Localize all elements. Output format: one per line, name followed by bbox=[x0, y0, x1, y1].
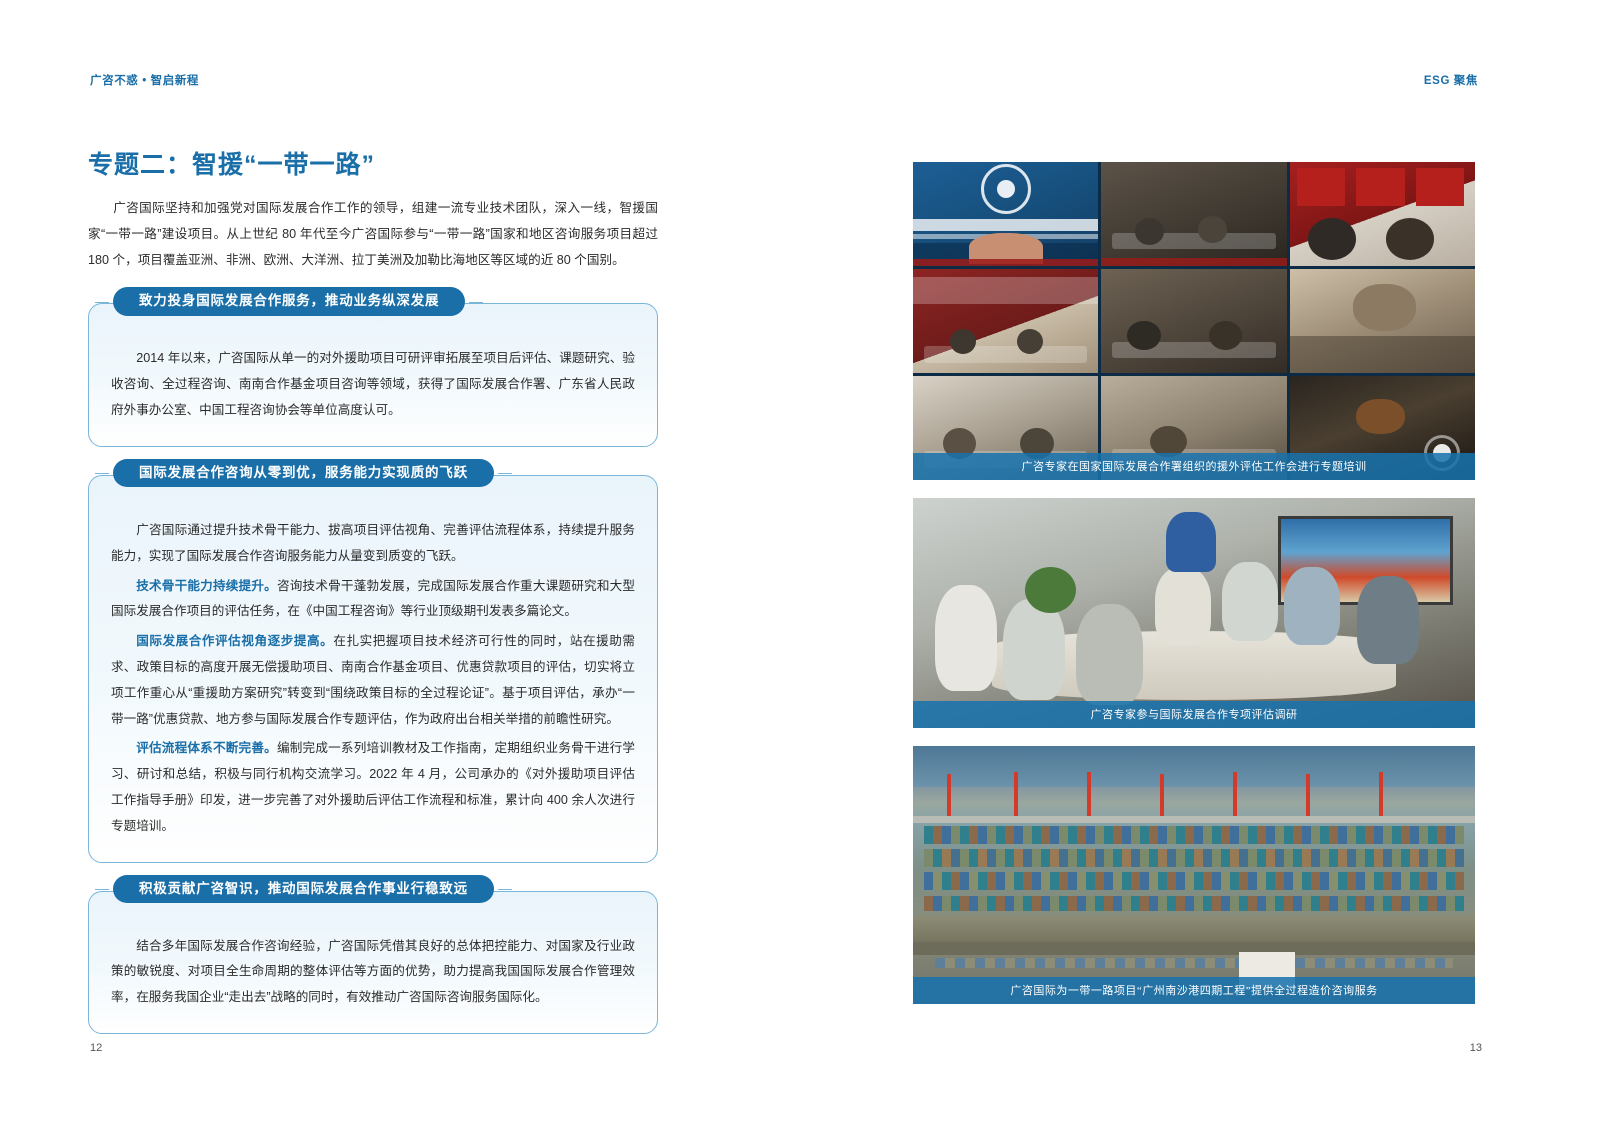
participant-portrait-2 bbox=[1356, 399, 1404, 434]
plant-decor bbox=[1025, 567, 1076, 613]
crane-6 bbox=[1306, 774, 1310, 815]
running-head-left: 广咨不惑 • 智启新程 bbox=[90, 72, 199, 88]
photo-training-grid: 广咨专家在国家国际发展合作署组织的援外评估工作会进行专题培训 bbox=[913, 162, 1475, 480]
crane-5 bbox=[1233, 772, 1237, 816]
attendee-center-1 bbox=[1155, 567, 1211, 645]
access-road bbox=[913, 942, 1475, 955]
page-title: 专题二：智援“一带一路” bbox=[88, 150, 658, 180]
callout-box-3: 积极贡献广咨智识，推动国际发展合作事业行稳致远 结合多年国际发展合作咨询经验，广… bbox=[88, 891, 658, 1034]
callout-1-paragraph-1: 2014 年以来，广咨国际从单一的对外援助项目可研评审拓展至项目后评估、课题研究… bbox=[111, 346, 635, 423]
running-head-right: ESG 聚焦 bbox=[1424, 72, 1478, 88]
grid-cell-4 bbox=[913, 269, 1098, 373]
attendee-center-2 bbox=[1222, 562, 1278, 640]
crane-3 bbox=[1087, 772, 1091, 816]
cidca-logo-icon bbox=[981, 164, 1031, 214]
party-flag-icon-3 bbox=[1416, 168, 1464, 205]
left-column: 专题二：智援“一带一路” 广咨国际坚持和加强党对国际发展合作工作的领导，组建一流… bbox=[88, 150, 658, 1062]
attendee-right-1 bbox=[1284, 567, 1340, 645]
crane-2 bbox=[1014, 772, 1018, 816]
participant-portrait bbox=[1353, 284, 1416, 332]
attendee-left-1 bbox=[935, 585, 997, 691]
attendee-3 bbox=[1308, 218, 1356, 260]
attendee-left-3 bbox=[1076, 604, 1143, 705]
shoulder-band bbox=[1290, 336, 1475, 373]
party-flag-icon-2 bbox=[1356, 168, 1404, 205]
page-number-left: 12 bbox=[90, 1042, 102, 1054]
callout-heading-3: 积极贡献广咨智识，推动国际发展合作事业行稳致远 bbox=[113, 875, 494, 904]
container-row-1 bbox=[924, 826, 1464, 844]
callout-2-lead-3: 国际发展合作评估视角逐步提高。 bbox=[136, 634, 333, 648]
attendee-left-2 bbox=[1003, 599, 1065, 700]
yard-ground bbox=[913, 916, 1475, 942]
grid-cell-5 bbox=[1101, 269, 1286, 373]
callout-2-paragraph-2: 技术骨干能力持续提升。咨询技术骨干蓬勃发展，完成国际发展合作重大课题研究和大型国… bbox=[111, 574, 635, 626]
crane-4 bbox=[1160, 774, 1164, 815]
party-flag-icon bbox=[1297, 168, 1345, 205]
cell-2-label-strip bbox=[1101, 258, 1286, 266]
callout-2-lead-2: 技术骨干能力持续提升。 bbox=[136, 579, 277, 593]
container-row-3 bbox=[924, 872, 1464, 890]
sea-area bbox=[913, 746, 1475, 787]
agency-name-bar bbox=[913, 219, 1098, 230]
photo-caption-3: 广咨国际为一带一路项目“广州南沙港四期工程”提供全过程造价咨询服务 bbox=[913, 977, 1475, 1004]
truck-row bbox=[935, 958, 1452, 968]
document-page: 广咨不惑 • 智启新程 ESG 聚焦 专题二：智援“一带一路” 广咨国际坚持和加… bbox=[0, 0, 1600, 1131]
callout-2-paragraph-1: 广咨国际通过提升技术骨干能力、拔高项目评估视角、完善评估流程体系，持续提升服务能… bbox=[111, 518, 635, 570]
backdrop-text-bar bbox=[913, 277, 1098, 304]
crane-1 bbox=[947, 774, 951, 815]
attendee-8 bbox=[1209, 321, 1242, 350]
photo-nansha-port: 广咨国际为一带一路项目“广州南沙港四期工程”提供全过程造价咨询服务 bbox=[913, 746, 1475, 1004]
intro-paragraph: 广咨国际坚持和加强党对国际发展合作工作的领导，组建一流专业技术团队，深入一线，智… bbox=[88, 196, 658, 273]
callout-3-paragraph-1: 结合多年国际发展合作咨询经验，广咨国际凭借其良好的总体把控能力、对国家及行业政策… bbox=[111, 934, 635, 1011]
callout-heading-2: 国际发展合作咨询从零到优，服务能力实现质的飞跃 bbox=[113, 459, 494, 488]
grid-cell-1 bbox=[913, 162, 1098, 266]
grid-cell-3 bbox=[1290, 162, 1475, 266]
crane-7 bbox=[1379, 772, 1383, 816]
callout-2-paragraph-4: 评估流程体系不断完善。编制完成一系列培训教材及工作指南，定期组织业务骨干进行学习… bbox=[111, 736, 635, 839]
right-column: 广咨专家在国家国际发展合作署组织的援外评估工作会进行专题培训 广咨专家参与国际发… bbox=[913, 162, 1475, 1022]
callout-2-paragraph-3: 国际发展合作评估视角逐步提高。在扎实把握项目技术经济可行性的同时，站在援助需求、… bbox=[111, 629, 635, 732]
container-row-4 bbox=[924, 896, 1464, 911]
callout-2-lead-4: 评估流程体系不断完善。 bbox=[136, 741, 277, 755]
photo-caption-1: 广咨专家在国家国际发展合作署组织的援外评估工作会进行专题培训 bbox=[913, 453, 1475, 480]
callout-box-1: 致力投身国际发展合作服务，推动业务纵深发展 2014 年以来，广咨国际从单一的对… bbox=[88, 303, 658, 446]
callout-box-2: 国际发展合作咨询从零到优，服务能力实现质的飞跃 广咨国际通过提升技术骨干能力、拔… bbox=[88, 475, 658, 863]
photo-evaluation-meeting: 广咨专家参与国际发展合作专项评估调研 bbox=[913, 498, 1475, 728]
callout-3-text-1: 结合多年国际发展合作咨询经验，广咨国际凭借其良好的总体把控能力、对国家及行业政策… bbox=[111, 939, 635, 1005]
attendee-7 bbox=[1127, 321, 1160, 350]
quay-strip bbox=[913, 816, 1475, 824]
attendee-4 bbox=[1386, 218, 1434, 260]
callout-heading-1: 致力投身国际发展合作服务，推动业务纵深发展 bbox=[113, 287, 465, 316]
video-grid bbox=[913, 162, 1475, 480]
callout-1-text-1: 2014 年以来，广咨国际从单一的对外援助项目可研评审拓展至项目后评估、课题研究… bbox=[111, 351, 635, 417]
attendee-6 bbox=[1017, 329, 1043, 354]
name-strip bbox=[913, 259, 1098, 266]
grid-cell-6 bbox=[1290, 269, 1475, 373]
photo-caption-2: 广咨专家参与国际发展合作专项评估调研 bbox=[913, 701, 1475, 728]
attendee-right-2 bbox=[1357, 576, 1419, 663]
page-number-right: 13 bbox=[1470, 1042, 1482, 1054]
presenter bbox=[1166, 512, 1217, 572]
callout-2-text-1: 广咨国际通过提升技术骨干能力、拔高项目评估视角、完善评估流程体系，持续提升服务能… bbox=[111, 523, 635, 563]
container-row-2 bbox=[924, 849, 1464, 867]
grid-cell-2 bbox=[1101, 162, 1286, 266]
conference-desk bbox=[924, 346, 1087, 363]
